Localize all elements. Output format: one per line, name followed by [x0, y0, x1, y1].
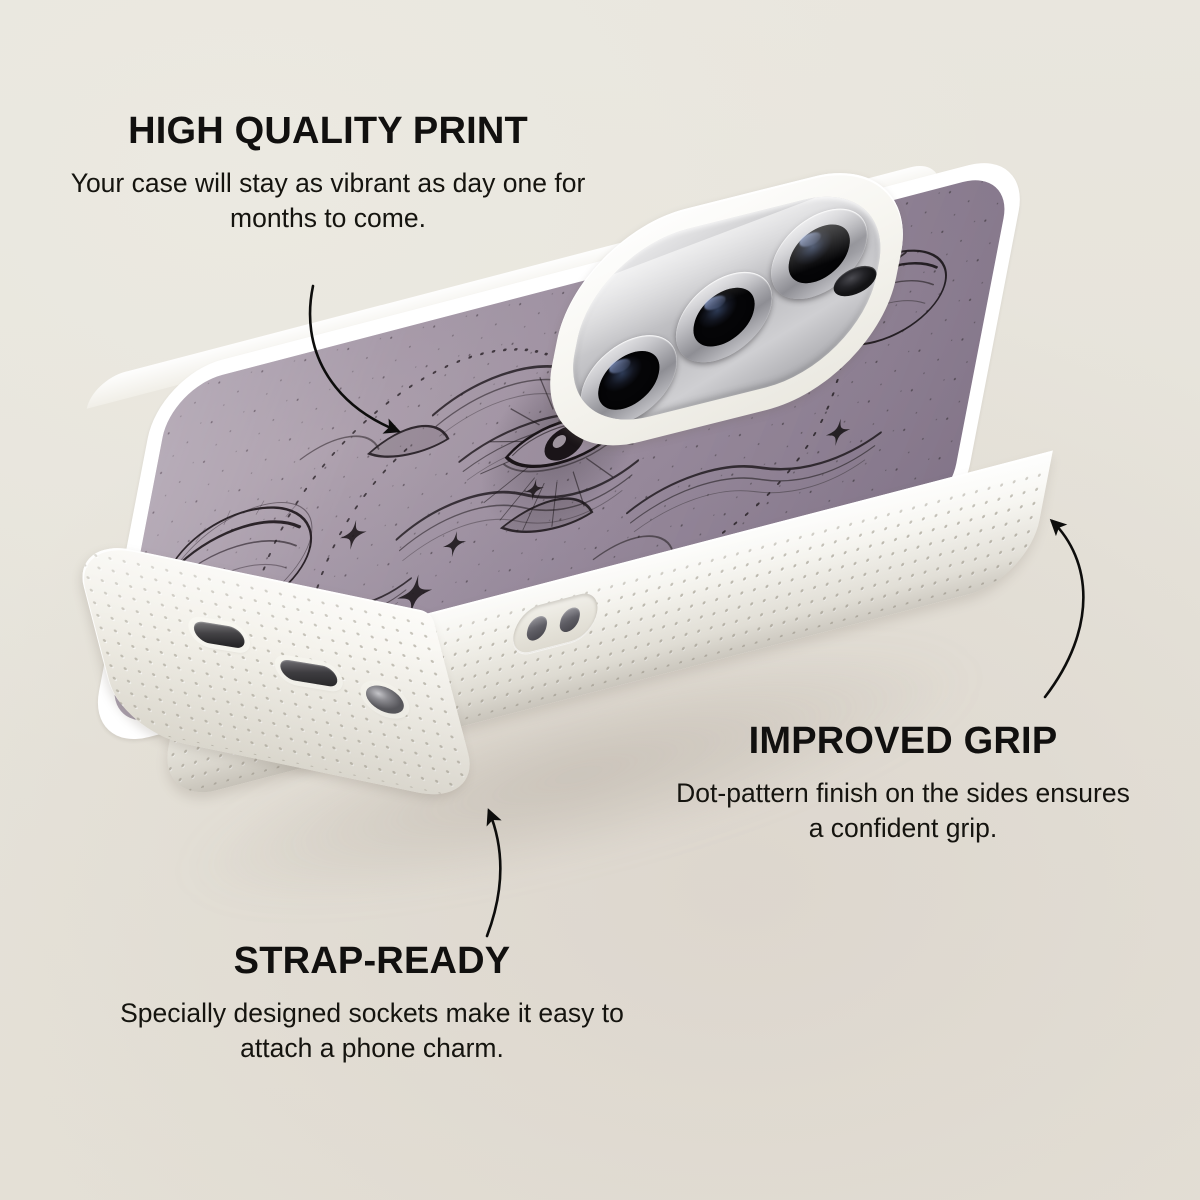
feature-high-quality-print: HIGH QUALITY PRINT Your case will stay a…	[48, 112, 608, 236]
product-feature-graphic: BURGA	[0, 0, 1200, 1200]
feature-title: STRAP-READY	[110, 942, 634, 982]
feature-improved-grip: IMPROVED GRIP Dot-pattern finish on the …	[668, 722, 1138, 846]
feature-title: HIGH QUALITY PRINT	[48, 112, 608, 152]
camera-lens-2	[668, 262, 780, 373]
feature-body: Dot-pattern finish on the sides ensures …	[668, 776, 1138, 846]
feature-body: Specially designed sockets make it easy …	[110, 996, 634, 1066]
feature-title: IMPROVED GRIP	[668, 722, 1138, 762]
feature-strap-ready: STRAP-READY Specially designed sockets m…	[110, 942, 634, 1066]
feature-body: Your case will stay as vibrant as day on…	[48, 166, 608, 236]
